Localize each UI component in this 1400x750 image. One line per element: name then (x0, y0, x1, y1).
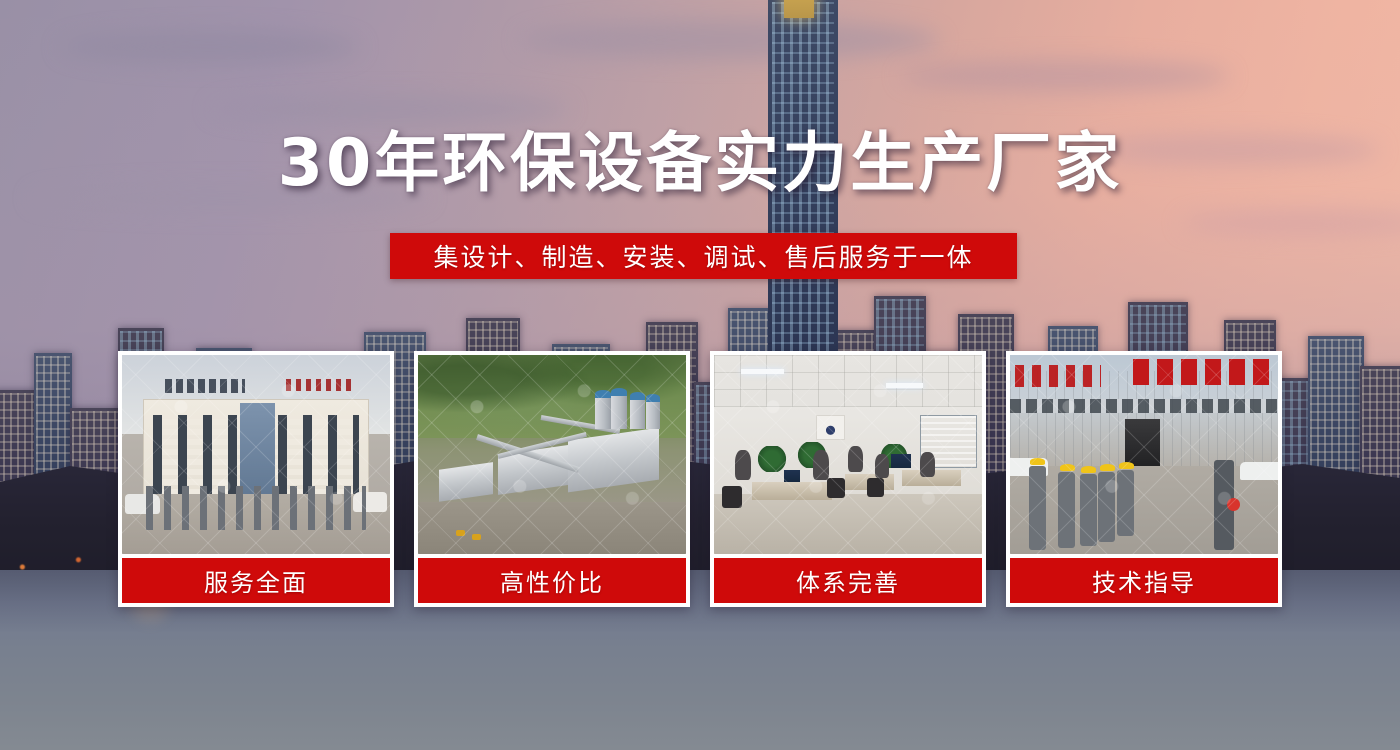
tower-crown-light (784, 0, 814, 18)
card-caption-value: 高性价比 (418, 558, 686, 603)
card-photo-plant (418, 355, 686, 554)
feature-card-guidance[interactable]: 技术指导 (1006, 351, 1282, 607)
building-phone-text (286, 379, 356, 391)
subtitle-text: 集设计、制造、安装、调试、售后服务于一体 (433, 238, 973, 274)
card-caption-guidance: 技术指导 (1010, 558, 1278, 603)
factory-slogan-text (1133, 359, 1272, 385)
cloud-2 (210, 95, 570, 123)
factory-slogan-text-small (1015, 365, 1101, 387)
card-photo-headquarters (122, 355, 390, 554)
cloud-4 (900, 60, 1230, 92)
feature-card-system[interactable]: 体系完善 (710, 351, 986, 607)
card-caption-service: 服务全面 (122, 558, 390, 603)
card-caption-system: 体系完善 (714, 558, 982, 603)
subtitle-banner: 集设计、制造、安装、调试、售后服务于一体 (390, 233, 1017, 279)
building-sign-text (165, 379, 245, 393)
card-photo-office (714, 355, 982, 554)
page-title: 30年环保设备实力生产厂家 (0, 131, 1400, 196)
cloud-3 (520, 20, 940, 60)
feature-card-service[interactable]: 服务全面 (118, 351, 394, 607)
card-photo-workers (1010, 355, 1278, 554)
wall-poster (816, 415, 845, 441)
feature-card-value[interactable]: 高性价比 (414, 351, 690, 607)
feature-card-list: 服务全面 高性价比 (118, 351, 1282, 607)
staff-lineup (146, 486, 366, 530)
cloud-1 (60, 30, 360, 64)
promo-banner: 30年环保设备实力生产厂家 集设计、制造、安装、调试、售后服务于一体 服务全面 (0, 0, 1400, 750)
